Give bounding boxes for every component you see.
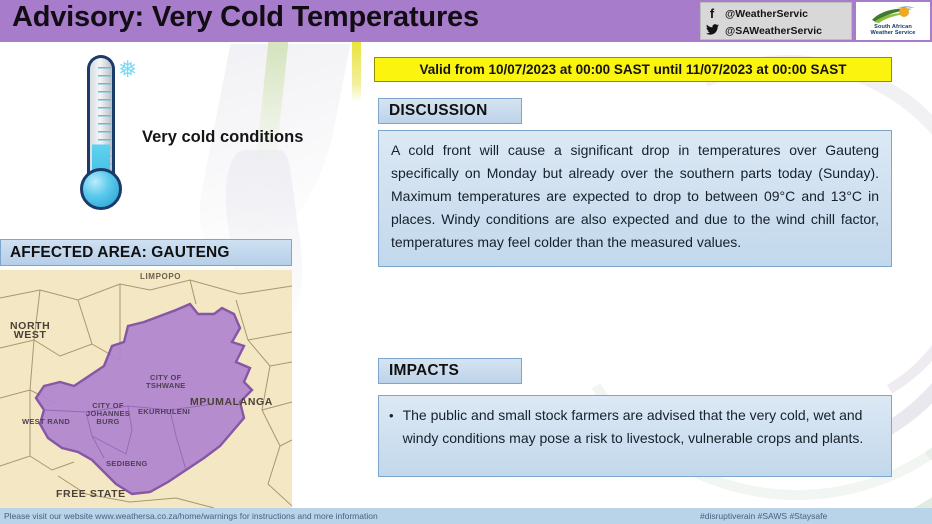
validity-banner: Valid from 10/07/2023 at 00:00 SAST unti… [374,57,892,82]
map-label-sedibeng: SEDIBENG [106,460,148,468]
map-label-ekurhuleni: EKURHULENI [138,408,190,416]
page-title: Advisory: Very Cold Temperatures [12,1,479,34]
social-handles: f @WeatherServic @SAWeatherServic [700,2,852,40]
thermometer-bulb [80,168,122,210]
advisory-poster: Advisory: Very Cold Temperatures f @Weat… [0,0,932,524]
facebook-handle: @WeatherServic [725,8,808,20]
impacts-text: The public and small stock farmers are a… [403,404,879,450]
impacts-heading-label: IMPACTS [389,362,459,380]
map-label-city-of-tshwane: CITY OF TSHWANE [146,374,186,390]
snowflake-icon: ❅ [118,58,137,81]
swoosh-left [190,44,351,254]
social-row-twitter[interactable]: @SAWeatherServic [705,22,851,39]
footer-website-text: Please visit our website www.weathersa.c… [4,511,378,521]
affected-area-banner: AFFECTED AREA: GAUTENG [0,239,292,266]
condition-label: Very cold conditions [142,128,303,147]
facebook-icon: f [705,7,719,21]
saws-logo-line2: Weather Service [871,30,916,36]
impacts-heading: IMPACTS [378,358,522,384]
saws-logo-mark [870,6,916,24]
social-row-facebook[interactable]: f @WeatherServic [705,5,851,22]
validity-text: Valid from 10/07/2023 at 00:00 SAST unti… [420,62,847,77]
twitter-handle: @SAWeatherServic [725,25,822,37]
map-label-west-rand: WEST RAND [22,418,70,426]
twitter-icon [705,24,719,38]
map-label-north-west: NORTH WEST [10,322,50,340]
footer-hashtags: #disruptiverain #SAWS #Staysafe [700,511,827,521]
impacts-list-item: • The public and small stock farmers are… [389,404,879,450]
map-label-mpumalanga: MPUMALANGA [190,398,273,407]
impacts-panel: • The public and small stock farmers are… [378,395,892,477]
map-label-free-state: FREE STATE [56,490,126,499]
discussion-heading: DISCUSSION [378,98,522,124]
stripe-yellow [352,42,361,102]
affected-area-label: AFFECTED AREA: GAUTENG [1,244,229,262]
header-bar: Advisory: Very Cold Temperatures f @Weat… [0,0,932,42]
discussion-heading-label: DISCUSSION [389,102,487,120]
footer-bar: Please visit our website www.weathersa.c… [0,508,932,524]
map-label-city-of-johannesburg: CITY OF JOHANNES BURG [86,402,130,426]
map-label-limpopo: LIMPOPO [140,272,181,281]
bullet-icon: • [389,404,394,427]
saws-logo: South African Weather Service [856,2,930,40]
discussion-panel: A cold front will cause a significant dr… [378,130,892,267]
discussion-text: A cold front will cause a significant dr… [391,139,879,254]
gauteng-map: NORTH WEST LIMPOPO MPUMALANGA FREE STATE… [0,270,292,512]
